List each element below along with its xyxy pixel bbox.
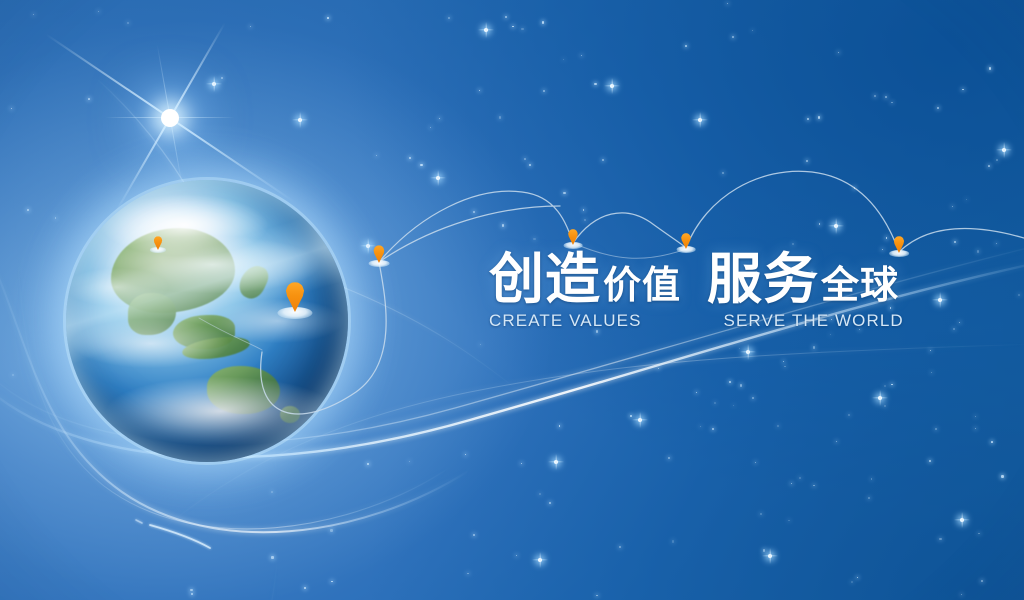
vignette-overlay [0,0,1024,600]
hero-banner: 创造 价值 服务 全球 CREATE VALUES SERVE THE WORL… [0,0,1024,600]
